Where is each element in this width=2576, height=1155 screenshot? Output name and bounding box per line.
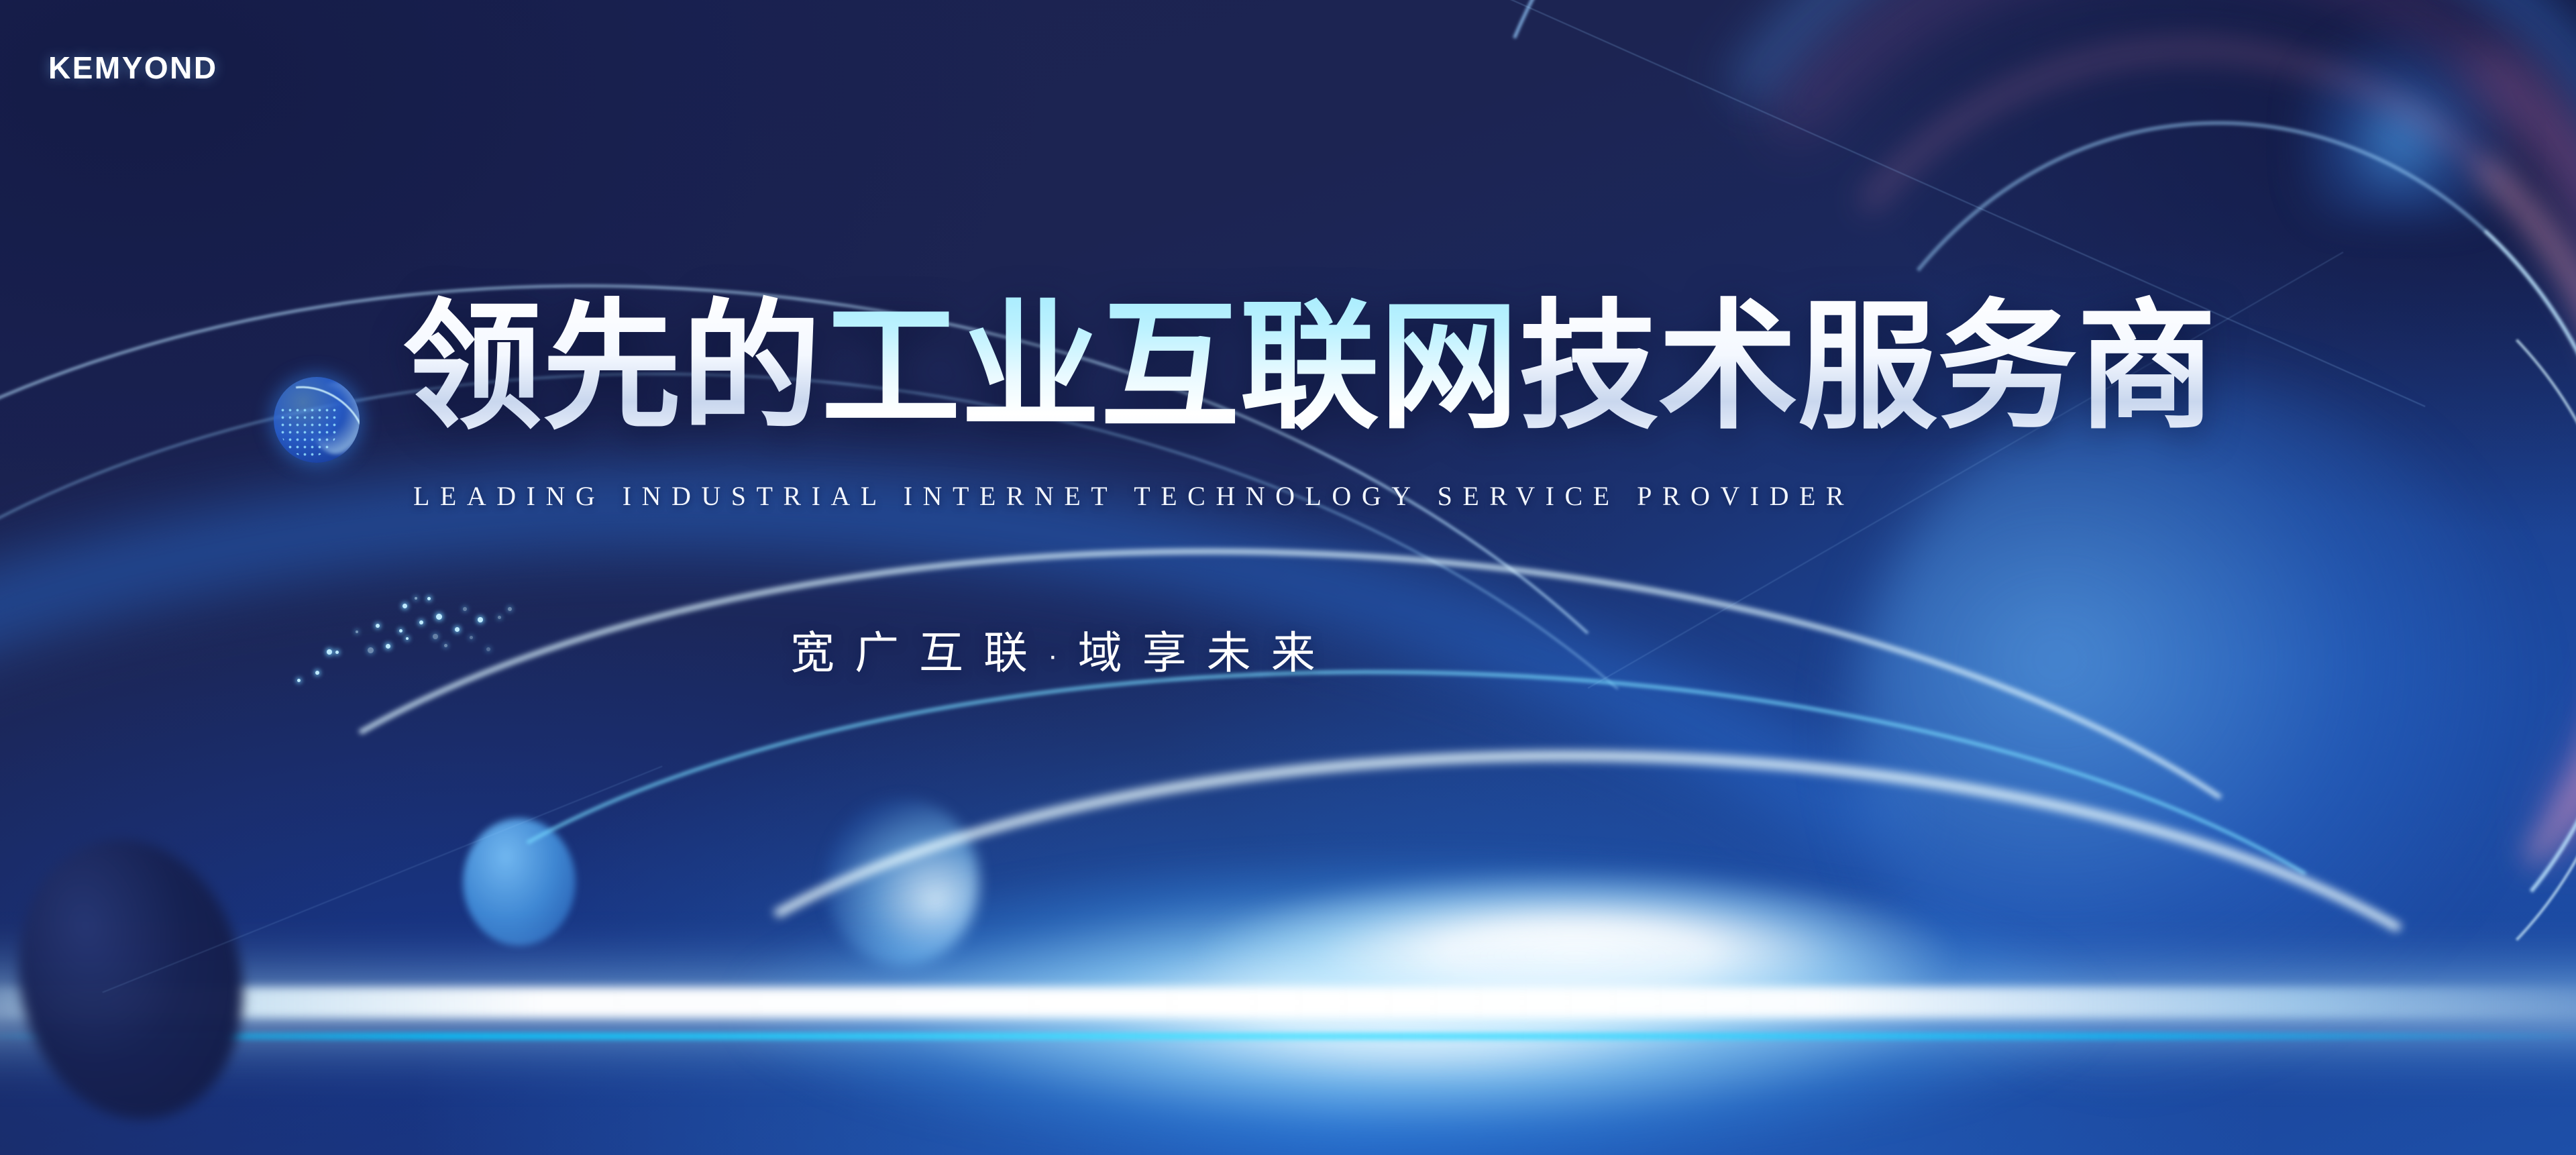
particle-dot bbox=[427, 597, 431, 600]
particle-dot bbox=[463, 607, 467, 611]
particle-dot bbox=[508, 607, 512, 611]
promo-banner: KEMYOND 领先的工业互联网技术服务商 LEADING INDUSTRIAL… bbox=[0, 0, 2576, 1155]
particle-dot bbox=[376, 624, 380, 628]
particle-dot bbox=[455, 627, 460, 632]
particle-dot bbox=[436, 614, 442, 620]
tagline-separator: · bbox=[1048, 639, 1078, 672]
particle-dot bbox=[297, 679, 301, 682]
particle-dot bbox=[498, 616, 501, 619]
particle-dot bbox=[433, 634, 438, 639]
headline-segment-highlight: 工业互联网 bbox=[821, 290, 1519, 445]
headline-segment-lead: 领先的 bbox=[402, 290, 821, 445]
particle-dot bbox=[478, 617, 483, 622]
dotted-globe-icon bbox=[274, 377, 360, 463]
particle-dot bbox=[368, 647, 374, 653]
page-title: 领先的工业互联网技术服务商 bbox=[402, 295, 2216, 440]
tagline-right: 域享未来 bbox=[1078, 628, 1336, 677]
particle-dot bbox=[486, 647, 490, 651]
subtitle-english: LEADING INDUSTRIAL INTERNET TECHNOLOGY S… bbox=[413, 480, 1854, 512]
brand-logo: KEMYOND bbox=[48, 50, 218, 86]
particle-field bbox=[0, 0, 2576, 1155]
particle-dot bbox=[444, 644, 447, 647]
tagline: 宽广互联·域享未来 bbox=[790, 617, 1336, 681]
particle-dot bbox=[399, 629, 402, 632]
particle-dot bbox=[386, 644, 390, 649]
particle-dot bbox=[415, 597, 417, 600]
particle-dot bbox=[406, 637, 409, 640]
particle-dot bbox=[315, 671, 319, 675]
particle-dot bbox=[419, 620, 423, 624]
particle-dot bbox=[470, 636, 473, 639]
particle-dot bbox=[356, 630, 358, 633]
tagline-left: 宽广互联 bbox=[790, 628, 1048, 677]
particle-dot bbox=[335, 651, 339, 654]
particle-dot bbox=[327, 649, 332, 655]
globe-highlight bbox=[310, 382, 360, 455]
particle-dot bbox=[402, 604, 407, 608]
headline-segment-tail: 技术服务商 bbox=[1519, 290, 2216, 445]
